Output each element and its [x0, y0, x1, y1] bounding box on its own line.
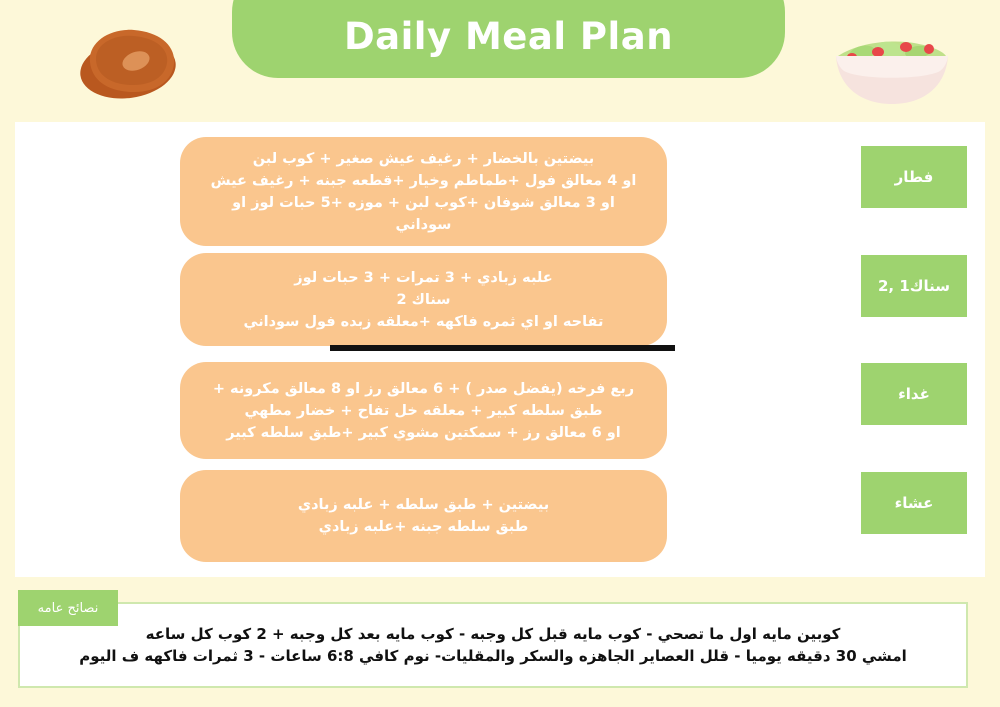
meal-line: سوداني: [206, 214, 641, 236]
tips-line: امشي 30 دقيقه يوميا - قلل العصاير الجاهز…: [79, 647, 907, 665]
tips-content: كوبين مايه اول ما تصحي - كوب مايه قبل كل…: [18, 602, 968, 688]
salad-bowl-illustration-icon: [828, 16, 956, 108]
meal-tag-snacks: سناك1 ,2: [861, 255, 967, 317]
section-divider: [330, 345, 675, 351]
meal-card-lunch: ربع فرخه (يفضل صدر ) + 6 معالق رز او 8 م…: [180, 362, 667, 459]
meal-line: طبق سلطه كبير + معلقه خل تفاح + خضار مطه…: [206, 400, 641, 422]
meal-line: طبق سلطه جبنه +علبه زبادي: [206, 516, 641, 538]
meal-line: او 6 معالق رز + سمكتين مشوي كبير +طبق سل…: [206, 422, 641, 444]
meal-tag-label: فطار: [895, 168, 934, 186]
meal-tag-breakfast: فطار: [861, 146, 967, 208]
meal-line: او 3 معالق شوفان +كوب لبن + موزه +5 حبات…: [206, 192, 641, 214]
meal-line: ربع فرخه (يفضل صدر ) + 6 معالق رز او 8 م…: [206, 378, 641, 400]
meal-tag-label: غداء: [898, 385, 930, 403]
steak-illustration-icon: [70, 14, 185, 104]
meal-line: بيضتين بالخضار + رغيف عيش صغير + كوب لبن: [206, 148, 641, 170]
meal-tag-dinner: عشاء: [861, 472, 967, 534]
meal-line: بيضتين + طبق سلطه + علبه زبادي: [206, 494, 641, 516]
meal-line: تفاحه او اي ثمره فاكهه +معلقه زبده فول س…: [206, 311, 641, 333]
meal-plan-page: Daily Meal Plan بيضتين بالخضار + رغيف عي: [0, 0, 1000, 707]
tips-line: كوبين مايه اول ما تصحي - كوب مايه قبل كل…: [146, 625, 841, 643]
meal-card-breakfast: بيضتين بالخضار + رغيف عيش صغير + كوب لبن…: [180, 137, 667, 246]
meal-tag-label: سناك1 ,2: [878, 277, 950, 295]
meal-line: سناك 2: [206, 289, 641, 311]
meal-tag-label: عشاء: [895, 494, 934, 512]
meal-line: علبه زبادي + 3 تمرات + 3 حبات لوز: [206, 267, 641, 289]
meal-card-dinner: بيضتين + طبق سلطه + علبه زبادي طبق سلطه …: [180, 470, 667, 562]
header-banner: Daily Meal Plan: [232, 0, 785, 78]
tips-badge: نصائح عامه: [18, 590, 118, 626]
meal-line: او 4 معالق فول +طماطم وخيار +قطعه جبنه +…: [206, 170, 641, 192]
page-title: Daily Meal Plan: [344, 15, 673, 58]
meal-card-snacks: علبه زبادي + 3 تمرات + 3 حبات لوز سناك 2…: [180, 253, 667, 346]
tips-badge-label: نصائح عامه: [38, 601, 99, 616]
meal-tag-lunch: غداء: [861, 363, 967, 425]
